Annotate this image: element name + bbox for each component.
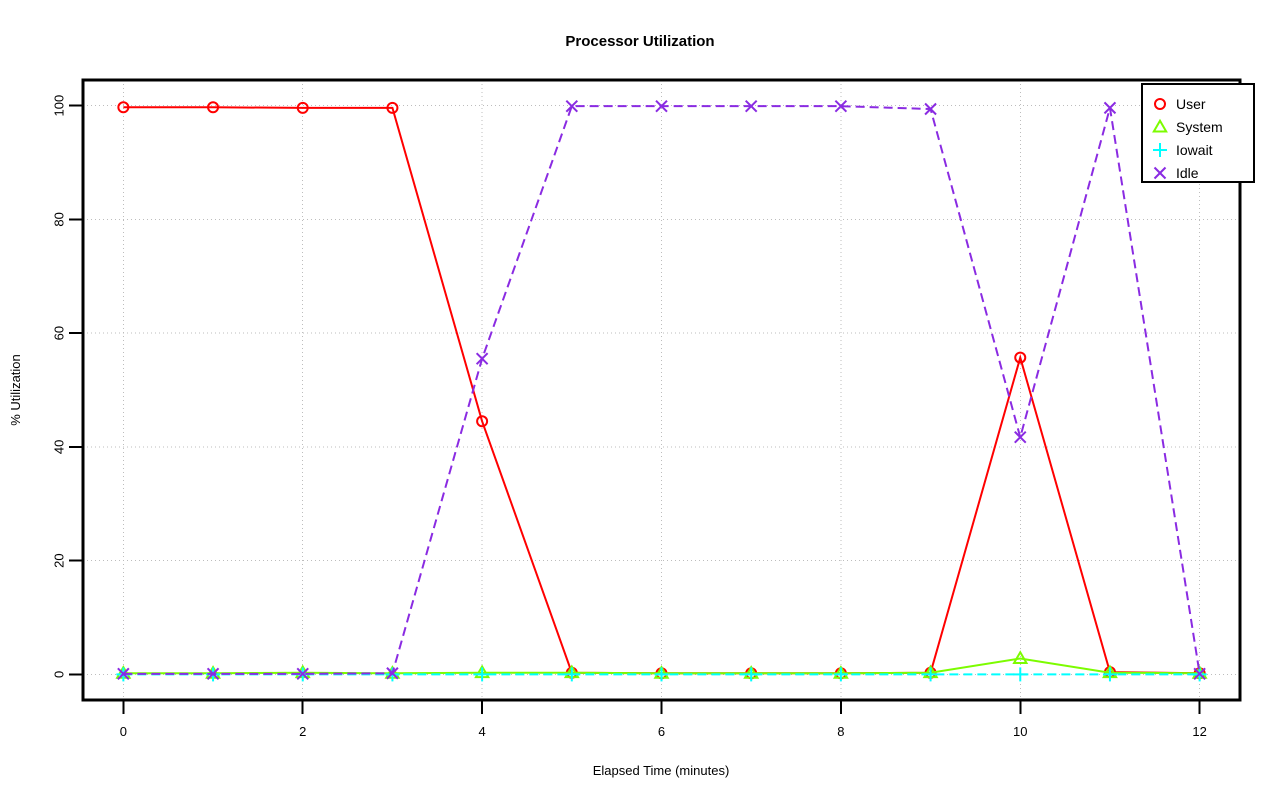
y-tick-label: 20 <box>52 553 67 567</box>
y-axis-ticks <box>69 106 83 675</box>
data-point-marker-iowait <box>834 667 848 681</box>
y-axis-tick-labels: 020406080100 <box>52 95 67 678</box>
grid-lines <box>83 80 1240 700</box>
chart-svg: 024681012 020406080100 Processor Utiliza… <box>0 0 1280 801</box>
processor-utilization-chart: 024681012 020406080100 Processor Utiliza… <box>0 0 1280 801</box>
legend[interactable]: UserSystemIowaitIdle <box>1142 84 1254 182</box>
x-tick-label: 6 <box>658 724 665 739</box>
page-title: Processor Utilization <box>565 33 714 50</box>
x-tick-label: 2 <box>299 724 306 739</box>
y-tick-label: 0 <box>52 671 67 678</box>
legend-label-user: User <box>1176 96 1206 112</box>
data-point-marker-iowait <box>655 667 669 681</box>
x-tick-label: 10 <box>1013 724 1027 739</box>
y-tick-label: 40 <box>52 440 67 454</box>
legend-label-idle: Idle <box>1176 165 1199 181</box>
x-axis-tick-labels: 024681012 <box>120 724 1207 739</box>
data-point-marker-idle <box>1015 432 1026 443</box>
x-tick-label: 12 <box>1192 724 1206 739</box>
legend-label-system: System <box>1176 119 1223 135</box>
x-axis-label: Elapsed Time (minutes) <box>593 763 730 778</box>
data-point-marker-iowait <box>475 667 489 681</box>
data-series-group <box>116 101 1206 682</box>
data-point-marker-iowait <box>744 667 758 681</box>
data-point-marker-idle <box>477 353 488 364</box>
x-tick-label: 8 <box>837 724 844 739</box>
y-axis-label: % Utilization <box>8 354 23 426</box>
x-tick-label: 0 <box>120 724 127 739</box>
y-tick-label: 60 <box>52 326 67 340</box>
y-tick-label: 100 <box>52 95 67 117</box>
y-tick-label: 80 <box>52 212 67 226</box>
legend-label-iowait: Iowait <box>1176 142 1213 158</box>
x-tick-label: 4 <box>479 724 486 739</box>
data-point-marker-iowait <box>1013 667 1027 681</box>
x-axis-ticks <box>123 700 1199 714</box>
